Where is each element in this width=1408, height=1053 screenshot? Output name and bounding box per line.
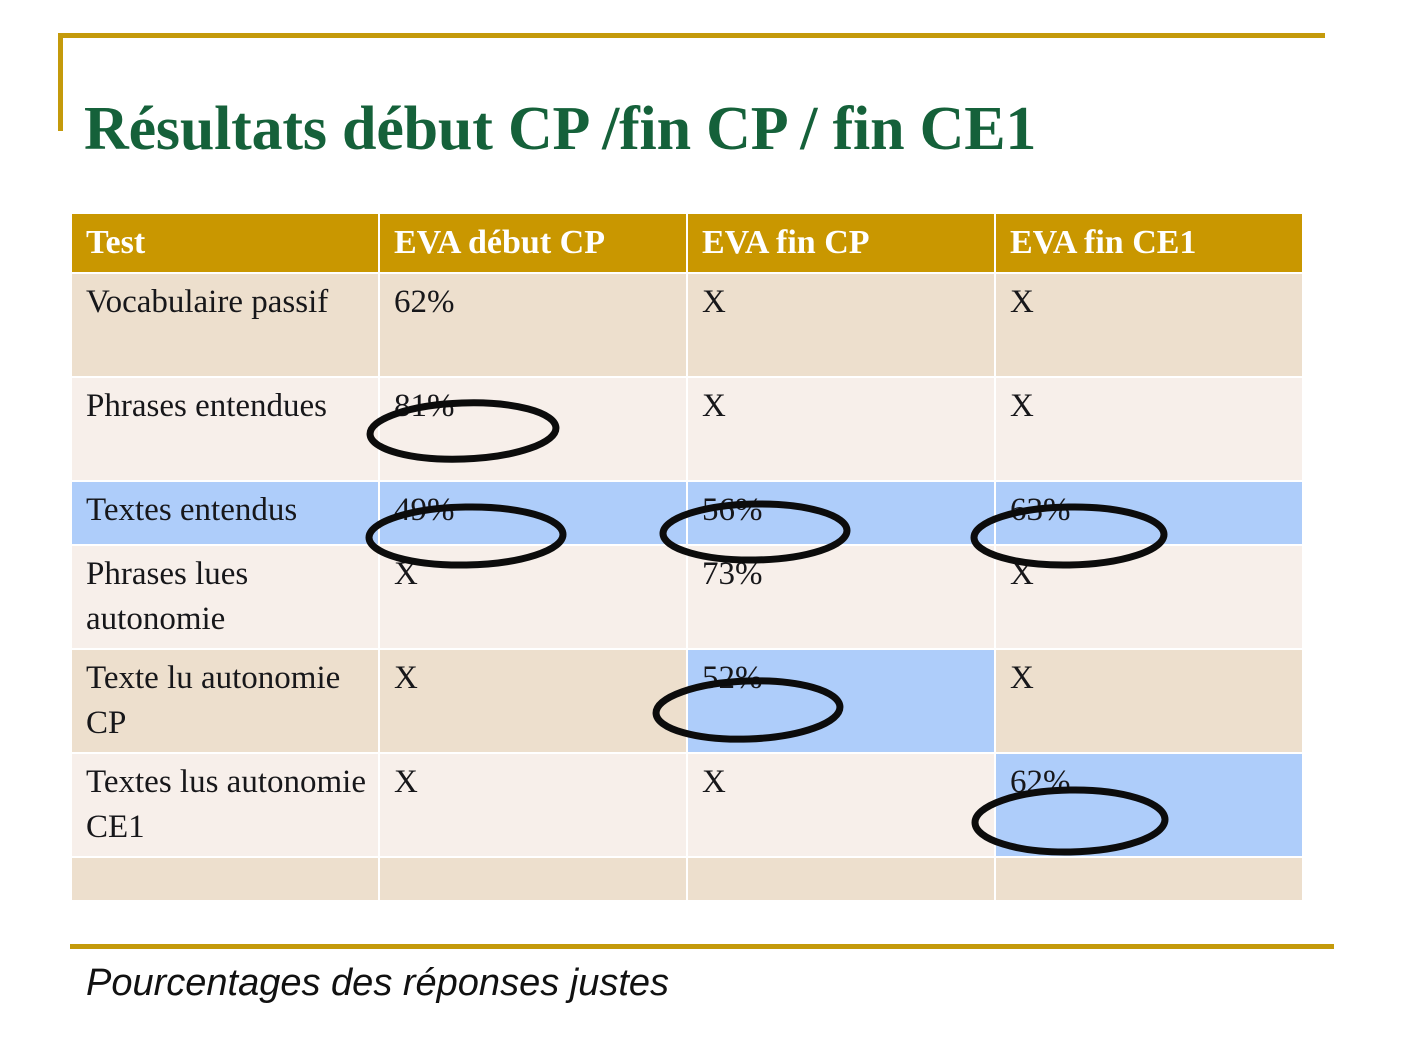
title-left-rule xyxy=(58,33,63,131)
column-header-eva-fin-ce1: EVA fin CE1 xyxy=(996,214,1302,272)
cell-value: X xyxy=(688,378,994,480)
row-label: Phrases entendues xyxy=(72,378,378,480)
cell-value: X xyxy=(996,274,1302,376)
table-row: Vocabulaire passif 62% X X xyxy=(72,274,1302,376)
row-label: Textes lus autonomie CE1 xyxy=(72,754,378,856)
cell-value: 52% xyxy=(688,650,994,752)
caption-text: Pourcentages des réponses justes xyxy=(86,962,669,1005)
title-top-rule xyxy=(58,33,1325,38)
page-title: Résultats début CP /fin CP / fin CE1 xyxy=(84,90,1334,168)
row-label: Vocabulaire passif xyxy=(72,274,378,376)
cell-value xyxy=(996,858,1302,900)
column-header-test: Test xyxy=(72,214,378,272)
cell-value: X xyxy=(996,378,1302,480)
cell-value: 62% xyxy=(380,274,686,376)
row-label xyxy=(72,858,378,900)
cell-value: 81% xyxy=(380,378,686,480)
cell-value: X xyxy=(380,650,686,752)
cell-value: X xyxy=(996,546,1302,648)
table-row-empty xyxy=(72,858,1302,900)
row-label: Textes entendus xyxy=(72,482,378,544)
cell-value: X xyxy=(996,650,1302,752)
cell-value: 63% xyxy=(996,482,1302,544)
cell-value: 62% xyxy=(996,754,1302,856)
cell-value: X xyxy=(380,754,686,856)
table-row: Texte lu autonomie CP X 52% X xyxy=(72,650,1302,752)
cell-value: X xyxy=(688,754,994,856)
cell-value: 49% xyxy=(380,482,686,544)
table-header-row: Test EVA début CP EVA fin CP EVA fin CE1 xyxy=(72,214,1302,272)
cell-value-highlighted: 73% xyxy=(688,546,994,648)
cell-value: 56% xyxy=(688,482,994,544)
table-row: Textes lus autonomie CE1 X X 62% xyxy=(72,754,1302,856)
cell-value xyxy=(380,858,686,900)
cell-value xyxy=(688,858,994,900)
row-label: Texte lu autonomie CP xyxy=(72,650,378,752)
column-header-eva-debut-cp: EVA début CP xyxy=(380,214,686,272)
row-label: Phrases lues autonomie xyxy=(72,546,378,648)
column-header-eva-fin-cp: EVA fin CP xyxy=(688,214,994,272)
cell-value: X xyxy=(380,546,686,648)
cell-value: X xyxy=(688,274,994,376)
table-row: Phrases entendues 81% X X xyxy=(72,378,1302,480)
caption-top-rule xyxy=(70,944,1334,949)
table-row: Phrases lues autonomie X 73% X xyxy=(72,546,1302,648)
results-table: Test EVA début CP EVA fin CP EVA fin CE1… xyxy=(70,212,1304,902)
table-row: Textes entendus 49% 56% 63% xyxy=(72,482,1302,544)
